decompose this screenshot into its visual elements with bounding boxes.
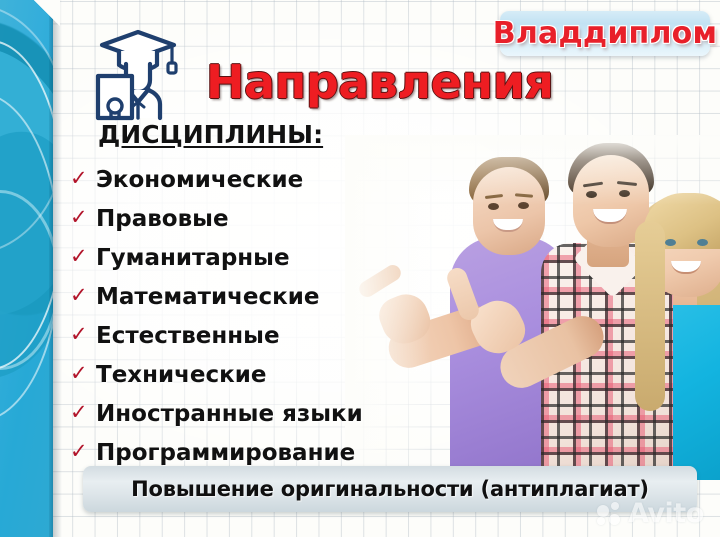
list-item: ✓ Экономические <box>70 160 430 199</box>
bottom-banner: Повышение оригинальности (антиплагиат) <box>83 466 697 512</box>
discipline-label: Иностранные языки <box>96 401 363 427</box>
page-title: Направления <box>206 57 553 107</box>
check-mark-icon: ✓ <box>70 246 96 267</box>
person-1-eye-right <box>518 202 529 209</box>
check-mark-icon: ✓ <box>70 441 96 462</box>
person-3-eye-left <box>665 239 676 246</box>
list-item: ✓ Технические <box>70 355 430 394</box>
discipline-label: Программирование <box>96 440 355 466</box>
list-item: ✓ Естественные <box>70 316 430 355</box>
section-heading: ДИСЦИПЛИНЫ: <box>98 120 323 149</box>
list-item: ✓ Правовые <box>70 199 430 238</box>
discipline-label: Технические <box>96 362 266 388</box>
brand-name: Владдиплом <box>493 16 717 51</box>
person-3-hair-side <box>635 221 665 411</box>
person-1-eye-left <box>488 203 499 210</box>
graduate-diploma-icon <box>86 18 190 122</box>
list-item: ✓ Гуманитарные <box>70 238 430 277</box>
band-drop-shadow <box>53 0 62 537</box>
brand-logo-badge[interactable]: Владдиплом <box>500 11 710 56</box>
check-mark-icon: ✓ <box>70 207 96 228</box>
discipline-label: Экономические <box>96 167 303 193</box>
list-item: ✓ Иностранные языки <box>70 394 430 433</box>
check-mark-icon: ✓ <box>70 363 96 384</box>
discipline-label: Правовые <box>96 206 229 232</box>
left-blue-band <box>0 0 53 537</box>
list-item: ✓ Математические <box>70 277 430 316</box>
disciplines-list: ✓ Экономические ✓ Правовые ✓ Гуманитарны… <box>70 160 430 472</box>
person-2-eye-left <box>586 191 597 198</box>
check-mark-icon: ✓ <box>70 168 96 189</box>
check-mark-icon: ✓ <box>70 402 96 423</box>
check-mark-icon: ✓ <box>70 285 96 306</box>
discipline-label: Естественные <box>96 323 280 349</box>
band-folded-corner <box>34 0 60 26</box>
discipline-label: Математические <box>96 284 319 310</box>
advertisement-poster: Владдиплом Направления ДИСЦИПЛИНЫ: ✓ Эко… <box>0 0 720 537</box>
person-2-eye-right <box>619 190 630 197</box>
discipline-label: Гуманитарные <box>96 245 290 271</box>
person-3-eye-right <box>697 239 708 246</box>
check-mark-icon: ✓ <box>70 324 96 345</box>
person-1-head <box>473 167 545 255</box>
banner-text: Повышение оригинальности (антиплагиат) <box>131 477 649 501</box>
